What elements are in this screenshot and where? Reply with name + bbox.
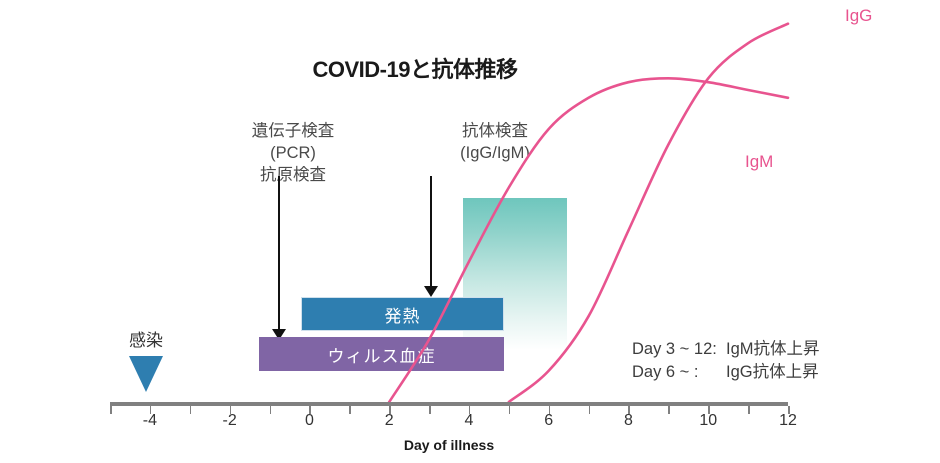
annotation-line-2: Day 6 ~ : IgG抗体上昇 <box>632 363 819 381</box>
page-title: COVID-19と抗体推移 <box>0 52 830 84</box>
down-triangle-marker-icon <box>129 356 163 392</box>
x-axis-tick-label: 0 <box>289 412 329 430</box>
fever-phase-bar: 発熱 <box>301 297 504 331</box>
annotation-line-1: Day 3 ~ 12: IgM抗体上昇 <box>632 340 820 358</box>
x-axis-title: Day of illness <box>110 437 788 453</box>
covid-antibody-timeline-figure: COVID-19と抗体推移 遺伝子検査 (PCR) 抗原検査 抗体検査 (IgG… <box>0 0 940 463</box>
igm-curve-label: IgM <box>745 152 773 172</box>
x-axis-tick <box>270 406 272 414</box>
x-axis-tick-label: 6 <box>529 412 569 430</box>
x-axis-tick <box>190 406 192 414</box>
x-axis-tick <box>429 406 431 414</box>
callout-antibody-label: 抗体検査 (IgG/IgM) <box>410 121 580 165</box>
igg-curve-label: IgG <box>845 6 872 26</box>
antibody-arrow-head-icon <box>424 286 438 297</box>
viremia-phase-bar: ウィルス血症 <box>259 337 504 371</box>
x-axis-line <box>110 402 788 406</box>
antibody-arrow-shaft <box>430 176 432 288</box>
x-axis-tick-label: 2 <box>369 412 409 430</box>
x-axis-tick <box>589 406 591 414</box>
antibody-rise-annotation: Day 3 ~ 12: IgM抗体上昇 Day 6 ~ : IgG抗体上昇 <box>632 338 820 385</box>
x-axis-tick-label: 12 <box>768 412 808 430</box>
infection-label: 感染 <box>108 326 184 351</box>
fever-phase-bar-label: 発熱 <box>385 302 421 327</box>
x-axis-tick <box>668 406 670 414</box>
x-axis-tick <box>349 406 351 414</box>
x-axis-tick-label: -4 <box>130 412 170 430</box>
x-axis-tick-label: 8 <box>608 412 648 430</box>
x-axis-tick <box>748 406 750 414</box>
x-axis-tick <box>509 406 511 414</box>
viremia-phase-bar-label: ウィルス血症 <box>328 342 436 367</box>
pcr-arrow-shaft <box>278 176 280 331</box>
x-axis-tick-label: 10 <box>688 412 728 430</box>
callout-pcr-label: 遺伝子検査 (PCR) 抗原検査 <box>208 121 378 186</box>
x-axis-tick <box>110 406 112 414</box>
x-axis-tick-label: 4 <box>449 412 489 430</box>
x-axis-tick-label: -2 <box>210 412 250 430</box>
